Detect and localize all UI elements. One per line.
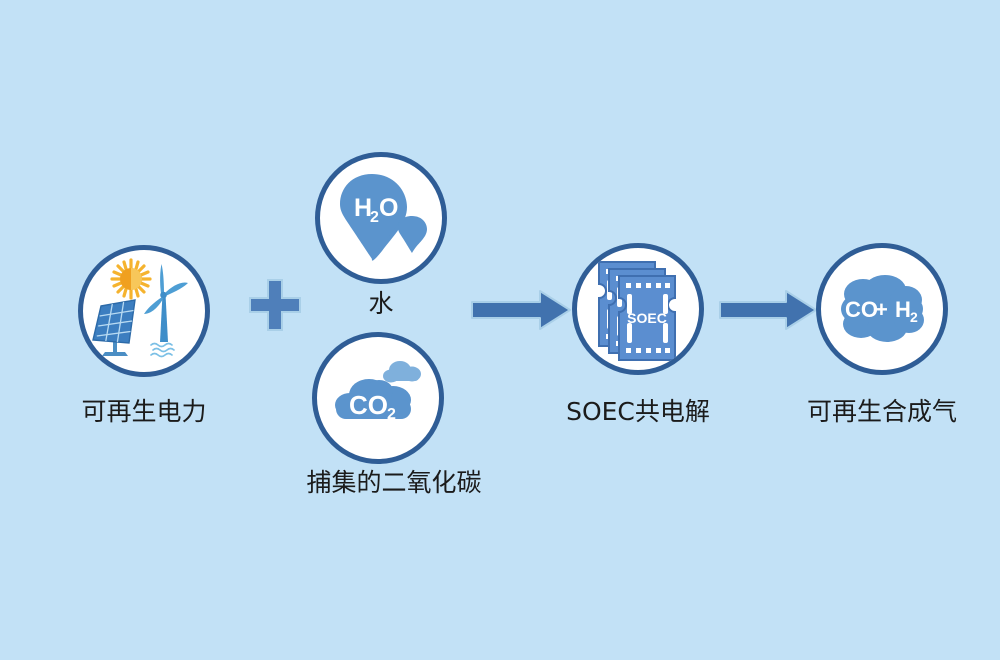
- circle-inner-syngas: CO + H 2: [821, 248, 943, 370]
- process-flow-diagram: 可再生电力 H H 2 O: [0, 0, 1000, 660]
- syngas-formula-group: CO + H 2: [845, 297, 918, 325]
- circle-inner-soec: SOEC: [577, 248, 699, 370]
- syngas-formula-sub: 2: [910, 309, 918, 325]
- soec-plate-label: SOEC: [627, 310, 667, 326]
- syngas-cloud-icon: CO + H 2: [821, 248, 943, 370]
- node-label-renewable-syngas: 可再生合成气: [738, 397, 1000, 427]
- co2-formula-main: CO: [349, 390, 388, 420]
- node-label-captured-co2: 捕集的二氧化碳: [250, 468, 538, 498]
- circle-inner-co2: CO 2: [317, 337, 439, 459]
- circle-inner-water: H H 2 O: [320, 157, 442, 279]
- circle-inner-renewable: [83, 250, 205, 372]
- arrow-to-syngas: [718, 287, 818, 333]
- water-formula-sub: 2: [370, 209, 379, 226]
- syngas-formula-plus: +: [875, 297, 888, 322]
- water-formula-tail: O: [379, 194, 398, 222]
- circle-water: H H 2 O: [315, 152, 447, 284]
- sun-icon: [112, 260, 150, 298]
- syngas-formula-h: H: [895, 297, 911, 322]
- arrow-right-icon: [470, 287, 572, 333]
- plus-icon: [247, 277, 303, 333]
- plus-sign-connector: [247, 277, 303, 333]
- soec-cell-stack-icon: SOEC: [577, 248, 699, 370]
- syngas-formula-co: CO: [845, 297, 878, 322]
- circle-soec: SOEC: [572, 243, 704, 375]
- arrow-to-soec: [470, 287, 572, 333]
- node-label-renewable-electricity: 可再生电力: [0, 397, 288, 427]
- solar-panel-icon: [93, 300, 135, 356]
- circle-renewable-syngas: CO + H 2: [816, 243, 948, 375]
- arrow-right-icon: [718, 287, 818, 333]
- circle-captured-co2: CO 2: [312, 332, 444, 464]
- node-label-water: 水: [297, 289, 465, 319]
- circle-renewable-electricity: [78, 245, 210, 377]
- cloud-small: [383, 361, 421, 383]
- co2-cloud-icon: CO 2: [317, 337, 439, 459]
- co2-formula-sub: 2: [387, 406, 396, 423]
- droplet-small: [398, 216, 427, 253]
- water-droplet-icon: H H 2 O: [320, 157, 442, 279]
- solar-panel-wind-turbine-sun-icon: [83, 250, 205, 372]
